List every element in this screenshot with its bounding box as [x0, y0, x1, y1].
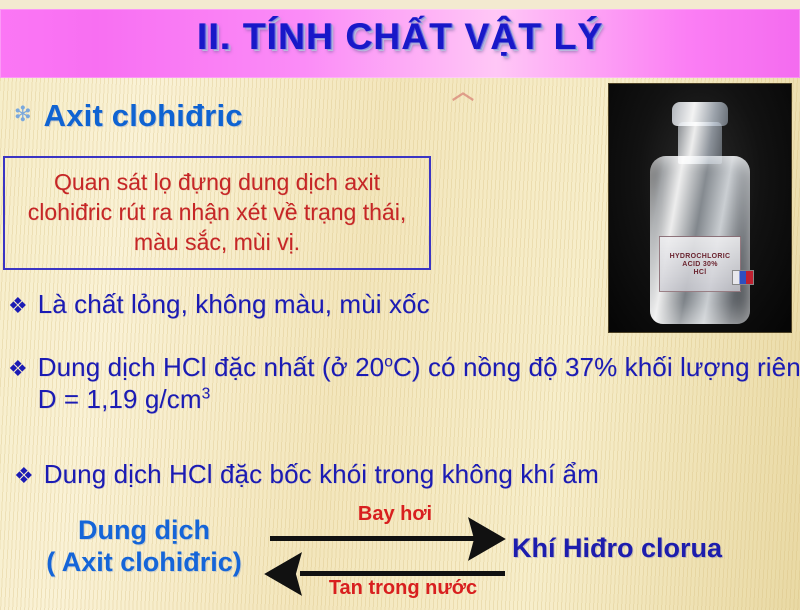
backward-arrow-shaft — [300, 571, 505, 576]
backward-arrow-head-icon — [264, 552, 302, 596]
slide-canvas: II. TÍNH CHẤT VẬT LÝ ︿ ❇ Axit clohiđric … — [0, 0, 800, 610]
sub-heading: ❇ Axit clohiđric — [14, 98, 243, 134]
bottle-label: HYDROCHLORIC ACID 30% HCl — [659, 236, 741, 292]
question-box: Quan sát lọ đựng dung dịch axit clohiđri… — [3, 156, 431, 270]
label-flag-sticker — [732, 270, 754, 285]
diamond-bullet-icon: ❖ — [8, 358, 28, 380]
reaction-arrows: Bay hơi Tan trong nước — [262, 505, 512, 605]
forward-arrow-label: Bay hơi — [310, 503, 480, 526]
reaction-left-species: Dung dịch ( Axit clohiđric) — [24, 515, 264, 579]
reaction-diagram: Dung dịch ( Axit clohiđric) Bay hơi Tan … — [0, 505, 800, 605]
acid-bottle-photo: HYDROCHLORIC ACID 30% HCl — [608, 83, 792, 333]
reaction-left-line-1: Dung dịch — [24, 515, 264, 547]
page-title: II. TÍNH CHẤT VẬT LÝ — [0, 16, 800, 58]
cubic-superscript: 3 — [202, 385, 211, 402]
bottle-label-line-1: HYDROCHLORIC — [670, 253, 731, 260]
question-text: Quan sát lọ đựng dung dịch axit clohiđri… — [5, 168, 429, 258]
snowflake-icon: ❇ — [14, 104, 32, 125]
diamond-bullet-icon: ❖ — [14, 465, 34, 487]
reaction-left-line-2: ( Axit clohiđric) — [24, 547, 264, 579]
reaction-right-species: Khí Hiđro clorua — [512, 533, 800, 564]
bottle-label-line-2: ACID 30% — [682, 261, 717, 268]
caret-mark-icon: ︿ — [448, 84, 478, 100]
diamond-bullet-icon: ❖ — [8, 295, 28, 317]
forward-arrow-shaft — [270, 536, 475, 541]
bullet-item-physical-state: ❖ Là chất lỏng, không màu, mùi xốc — [8, 289, 430, 321]
bullet-label: Là chất lỏng, không màu, mùi xốc — [38, 289, 430, 321]
bullet-item-concentration: ❖ Dung dịch HCl đặc nhất (ở 20oC) có nồn… — [8, 352, 800, 415]
bullet-label: Dung dịch HCl đặc bốc khói trong không k… — [44, 459, 599, 491]
bottle-label-line-3: HCl — [694, 269, 707, 276]
degree-superscript: o — [384, 353, 393, 370]
bullet-item-fuming: ❖ Dung dịch HCl đặc bốc khói trong không… — [14, 459, 599, 491]
backward-arrow-label: Tan trong nước — [298, 577, 508, 600]
bullet-text-part-1: Dung dịch HCl đặc nhất (ở 20 — [38, 352, 384, 382]
sub-heading-label: Axit clohiđric — [44, 98, 243, 134]
bullet-label: Dung dịch HCl đặc nhất (ở 20oC) có nồng … — [38, 352, 800, 415]
